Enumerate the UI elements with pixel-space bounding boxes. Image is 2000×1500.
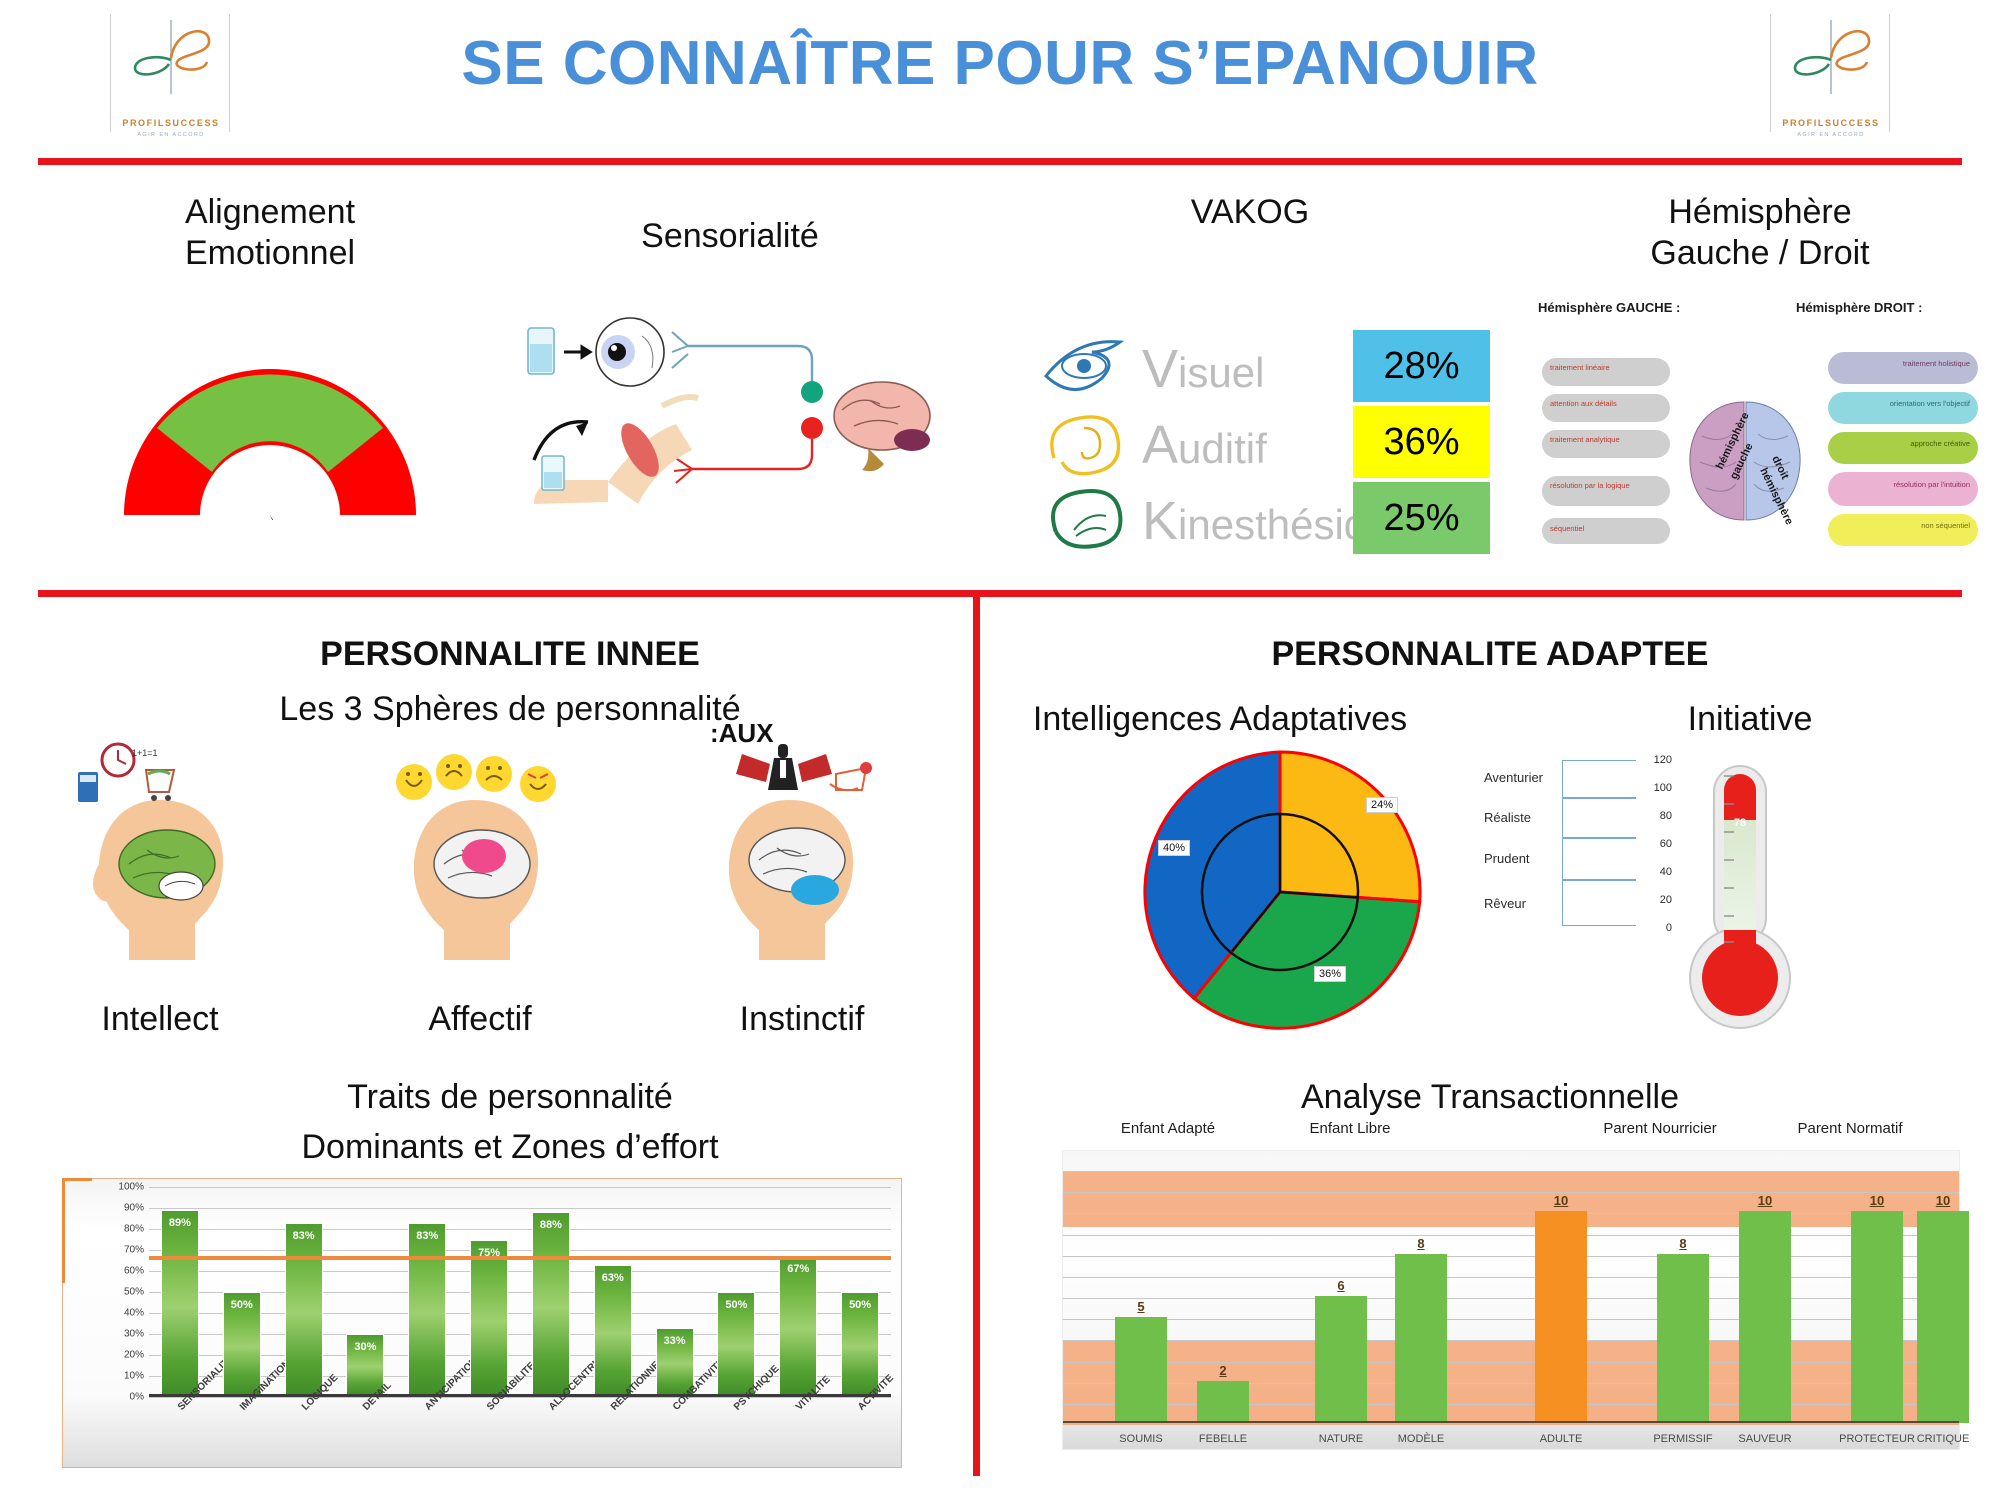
at-category-label: MODÈLE xyxy=(1375,1433,1467,1445)
hemi-right-item-2: approche créative xyxy=(1828,432,1978,464)
logo-tagline: AGIR EN ACCORD xyxy=(1771,132,1891,138)
traits-bar-value: 67% xyxy=(780,1263,816,1275)
at-bar-fill xyxy=(1197,1381,1249,1423)
traits-bar-value: 50% xyxy=(224,1299,260,1311)
traits-bar: 63% xyxy=(594,1265,632,1397)
at-bar-fill xyxy=(1115,1317,1167,1423)
at-category-label: ADULTE xyxy=(1515,1433,1607,1445)
thermo-band-reveur: Rêveur xyxy=(1484,896,1526,911)
vakog-row-kinesthesique: Kinesthésique 25% xyxy=(1040,482,1490,554)
thermo-band-aventurier: Aventurier xyxy=(1484,770,1543,785)
at-group-label: Parent Nourricier xyxy=(1560,1120,1760,1137)
vakog-rows: Visuel 28% Auditif 36% Kinesthésique 25% xyxy=(1040,330,1490,560)
hemisphere-left-heading: Hémisphère GAUCHE : xyxy=(1538,300,1680,315)
head-intellect-icon xyxy=(85,790,235,975)
traits-y-tick: 40% xyxy=(124,1308,144,1319)
traits-y-tick: 100% xyxy=(118,1182,144,1193)
hemi-left-item-1: attention aux détails xyxy=(1542,394,1670,422)
traits-bar: 50% xyxy=(223,1292,261,1397)
divider-top xyxy=(38,158,1962,165)
traits-bar-value: 89% xyxy=(162,1217,198,1229)
personnalite-innee-title: PERSONNALITE INNEE xyxy=(60,635,960,674)
traits-bar-value: 83% xyxy=(409,1230,445,1242)
traits-bar: 75% xyxy=(470,1240,508,1398)
thermometer-icon: 78 xyxy=(1680,760,1800,1040)
thermo-scale-60: 60 xyxy=(1638,838,1672,850)
profilsuccess-logo-icon xyxy=(1771,14,1891,100)
analyse-transactionnelle-chart: 5SOUMIS2FEBELLE6NATURE8MODÈLE10ADULTE8PE… xyxy=(1062,1150,1960,1450)
at-gridline xyxy=(1063,1256,1959,1257)
vakog-label-auditif: Auditif xyxy=(1142,414,1267,476)
traits-gridline xyxy=(149,1229,891,1230)
at-bar xyxy=(1115,1317,1167,1423)
at-bar-value: 2 xyxy=(1197,1363,1249,1378)
thermo-scale-40: 40 xyxy=(1638,866,1672,878)
traits-bar-value: 30% xyxy=(347,1341,383,1353)
traits-bar: 83% xyxy=(285,1223,323,1397)
traits-plot-area: 100%90%80%70%60%50%40%30%20%10%0%89%SENS… xyxy=(149,1187,891,1397)
at-top-band xyxy=(1063,1171,1959,1227)
traits-bar: 50% xyxy=(841,1292,879,1397)
brace-prudent xyxy=(1562,838,1636,880)
thermo-scale-120: 120 xyxy=(1638,754,1672,766)
at-bar-value: 10 xyxy=(1535,1193,1587,1208)
at-category-label: PERMISSIF xyxy=(1637,1433,1729,1445)
traits-gridline xyxy=(149,1250,891,1251)
at-group-label: Enfant Libre xyxy=(1250,1120,1450,1137)
thermo-band-realiste: Réaliste xyxy=(1484,810,1531,825)
at-bar xyxy=(1917,1211,1969,1423)
logo-wordmark: PROFILSUCCESS xyxy=(111,118,231,128)
brace-aventurier xyxy=(1562,760,1636,798)
at-bar-fill xyxy=(1851,1211,1903,1423)
at-gridline xyxy=(1063,1213,1959,1214)
at-group-label: Enfant Adapté xyxy=(1068,1120,1268,1137)
hemi-right-item-1: orientation vers l'objectif xyxy=(1828,392,1978,424)
brace-realiste xyxy=(1562,798,1636,838)
at-category-label: FEBELLE xyxy=(1177,1433,1269,1445)
at-bar xyxy=(1739,1211,1791,1423)
thermo-scale-100: 100 xyxy=(1638,782,1672,794)
hemisphere-diagram: Hémisphère GAUCHE : Hémisphère DROIT : t… xyxy=(1530,300,1990,580)
hemi-left-item-4: séquentiel xyxy=(1542,518,1670,544)
at-bar xyxy=(1197,1381,1249,1423)
hemi-right-item-4: non séquentiel xyxy=(1828,514,1978,546)
at-category-label: SAUVEUR xyxy=(1719,1433,1811,1445)
brain-icon: hémisphère gauche hémisphère droit xyxy=(1680,396,1810,526)
at-bar-fill xyxy=(1315,1296,1367,1423)
traits-title-line2: Dominants et Zones d’effort xyxy=(60,1128,960,1167)
traits-bar: 83% xyxy=(408,1223,446,1397)
traits-bar-value: 83% xyxy=(286,1230,322,1242)
traits-title-line1: Traits de personnalité xyxy=(60,1078,960,1117)
traits-bar-value: 63% xyxy=(595,1272,631,1284)
logo-tagline: AGIR EN ACCORD xyxy=(111,132,231,138)
hemi-right-item-0: traitement holistique xyxy=(1828,352,1978,384)
traits-y-tick: 0% xyxy=(130,1392,144,1403)
traits-bar: 88% xyxy=(532,1212,570,1397)
traits-y-tick: 60% xyxy=(124,1266,144,1277)
vakog-pct-visuel: 28% xyxy=(1353,330,1490,402)
traits-threshold-line xyxy=(149,1256,891,1260)
at-bar xyxy=(1851,1211,1903,1423)
thermo-scale-20: 20 xyxy=(1638,894,1672,906)
traits-gridline xyxy=(149,1187,891,1188)
traits-y-tick: 50% xyxy=(124,1287,144,1298)
svg-text:78: 78 xyxy=(1734,817,1746,829)
at-bar-value: 10 xyxy=(1917,1193,1969,1208)
intelligences-adaptatives-title: Intelligences Adaptatives xyxy=(1000,700,1440,739)
at-bar xyxy=(1657,1254,1709,1423)
vakog-row-visuel: Visuel 28% xyxy=(1040,330,1490,402)
at-bar-fill xyxy=(1535,1211,1587,1423)
intelligences-pie-chart xyxy=(1130,742,1430,1042)
logo-wordmark: PROFILSUCCESS xyxy=(1771,118,1891,128)
initiative-thermometer: 78 xyxy=(1680,760,1800,1040)
at-gridline xyxy=(1063,1340,1959,1341)
traits-bar: 67% xyxy=(779,1256,817,1397)
vakog-pct-kinesthesique: 25% xyxy=(1353,482,1490,554)
at-bar-value: 6 xyxy=(1315,1278,1367,1293)
traits-bar: 50% xyxy=(717,1292,755,1397)
traits-bar-value: 33% xyxy=(657,1335,693,1347)
at-gridline xyxy=(1063,1277,1959,1278)
intellect-accessories-icon: 1+1=1 xyxy=(74,740,184,816)
logo-right: PROFILSUCCESS AGIR EN ACCORD xyxy=(1770,14,1890,132)
traits-bar: 89% xyxy=(161,1210,199,1397)
at-bar xyxy=(1535,1211,1587,1423)
at-x-axis xyxy=(1063,1421,1959,1423)
traits-bar-chart: 100%90%80%70%60%50%40%30%20%10%0%89%SENS… xyxy=(62,1178,902,1468)
at-bar-value: 5 xyxy=(1115,1299,1167,1314)
traits-chart-frame xyxy=(62,1178,92,1283)
initiative-title: Initiative xyxy=(1600,700,1900,739)
at-bar-fill xyxy=(1657,1254,1709,1423)
alignement-emotionnel-title: Alignement Emotionnel xyxy=(80,192,460,275)
analyse-transactionnelle-title: Analyse Transactionnelle xyxy=(1000,1078,1980,1117)
at-bar xyxy=(1315,1296,1367,1423)
ear-icon xyxy=(1040,408,1136,476)
head-instinctif-icon xyxy=(715,790,865,975)
at-bar-fill xyxy=(1395,1254,1447,1423)
traits-y-tick: 90% xyxy=(124,1203,144,1214)
head-affectif-icon xyxy=(400,790,550,975)
pie-label-2: 40% xyxy=(1158,840,1190,856)
vakog-label-visuel: Visuel xyxy=(1142,338,1264,400)
vakog-title: VAKOG xyxy=(1020,192,1480,233)
at-category-label: SOUMIS xyxy=(1095,1433,1187,1445)
traits-x-axis xyxy=(149,1394,891,1397)
pie-label-0: 24% xyxy=(1366,797,1398,813)
at-bar xyxy=(1395,1254,1447,1423)
divider-vertical xyxy=(973,596,980,1476)
header: PROFILSUCCESS AGIR EN ACCORD SE CONNAÎTR… xyxy=(0,0,2000,160)
traits-y-tick: 70% xyxy=(124,1245,144,1256)
traits-bar-value: 50% xyxy=(842,1299,878,1311)
at-gridline xyxy=(1063,1235,1959,1236)
eye-icon xyxy=(1040,332,1136,400)
hemi-left-item-0: traitement linéaire xyxy=(1542,358,1670,386)
pie-label-1: 36% xyxy=(1314,966,1346,982)
vakog-row-auditif: Auditif 36% xyxy=(1040,406,1490,478)
at-category-label: CRITIQUE xyxy=(1897,1433,1989,1445)
divider-middle xyxy=(38,590,1962,597)
page-title: SE CONNAÎTRE POUR S’EPANOUIR xyxy=(0,28,2000,99)
hemisphere-title: Hémisphère Gauche / Droit xyxy=(1520,192,2000,275)
at-bar-value: 10 xyxy=(1739,1193,1791,1208)
at-bar-fill xyxy=(1917,1211,1969,1423)
traits-y-tick: 30% xyxy=(124,1329,144,1340)
vakog-pct-auditif: 36% xyxy=(1353,406,1490,478)
brace-reveur xyxy=(1562,880,1636,926)
infographic-page: PROFILSUCCESS AGIR EN ACCORD SE CONNAÎTR… xyxy=(0,0,2000,1500)
sphere-label-intellect: Intellect xyxy=(50,1000,270,1039)
at-bar-fill xyxy=(1739,1211,1791,1423)
hemi-right-item-3: résolution par l'intuition xyxy=(1828,472,1978,506)
hemi-left-item-3: résolution par la logique xyxy=(1542,476,1670,506)
at-bar-value: 8 xyxy=(1657,1236,1709,1251)
at-category-label: NATURE xyxy=(1295,1433,1387,1445)
at-bar-value: 8 xyxy=(1395,1236,1447,1251)
hemisphere-right-heading: Hémisphère DROIT : xyxy=(1796,300,1922,315)
thermo-scale-0: 0 xyxy=(1638,922,1672,934)
at-group-label: Parent Normatif xyxy=(1750,1120,1950,1137)
affectif-emojis-icon xyxy=(392,748,572,808)
alignement-gauge xyxy=(110,355,430,520)
traits-gridline xyxy=(149,1208,891,1209)
spheres-title: Les 3 Sphères de personnalité xyxy=(60,690,960,729)
at-bar-value: 10 xyxy=(1851,1193,1903,1208)
thermo-scale-80: 80 xyxy=(1638,810,1672,822)
sensorialite-title: Sensorialité xyxy=(520,216,940,257)
personnalite-adaptee-title: PERSONNALITE ADAPTEE xyxy=(1000,635,1980,674)
thermo-band-prudent: Prudent xyxy=(1484,851,1530,866)
at-gridline xyxy=(1063,1192,1959,1193)
traits-y-tick: 20% xyxy=(124,1350,144,1361)
at-gridline xyxy=(1063,1319,1959,1320)
instinctif-accessories-icon xyxy=(700,738,880,810)
traits-y-tick: 10% xyxy=(124,1371,144,1382)
hemi-left-item-2: traitement analytique xyxy=(1542,430,1670,458)
hand-icon xyxy=(1040,484,1136,552)
traits-bar-value: 50% xyxy=(718,1299,754,1311)
sphere-label-affectif: Affectif xyxy=(370,1000,590,1039)
traits-y-tick: 80% xyxy=(124,1224,144,1235)
sphere-label-instinctif: Instinctif xyxy=(692,1000,912,1039)
at-gridline xyxy=(1063,1171,1959,1172)
sensorialite-diagram xyxy=(520,300,940,510)
at-gridline xyxy=(1063,1298,1959,1299)
svg-text:1+1=1: 1+1=1 xyxy=(132,748,158,758)
traits-bar-value: 88% xyxy=(533,1219,569,1231)
